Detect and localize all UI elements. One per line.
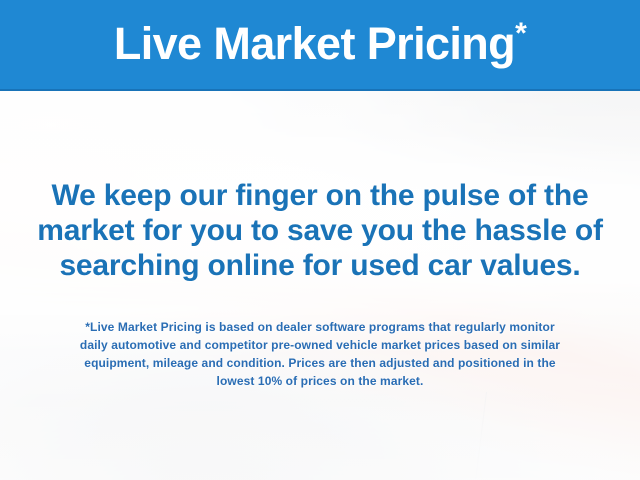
page-title-text: Live Market Pricing <box>114 18 515 69</box>
live-market-pricing-card: Live Market Pricing* We keep our finger … <box>0 0 640 480</box>
headline: We keep our finger on the pulse of the m… <box>0 178 640 283</box>
disclaimer-line: equipment, mileage and condition. Prices… <box>26 354 614 372</box>
disclaimer-line: daily automotive and competitor pre-owne… <box>26 336 614 354</box>
page-title-asterisk: * <box>515 17 526 50</box>
disclaimer-line: lowest 10% of prices on the market. <box>26 372 614 390</box>
headline-line: searching online for used car values. <box>18 248 622 283</box>
disclaimer-line: *Live Market Pricing is based on dealer … <box>26 318 614 336</box>
page-title: Live Market Pricing* <box>114 21 526 66</box>
header-banner: Live Market Pricing* <box>0 0 640 91</box>
headline-line: market for you to save you the hassle of <box>18 213 622 248</box>
headline-line: We keep our finger on the pulse of the <box>18 178 622 213</box>
disclaimer-text: *Live Market Pricing is based on dealer … <box>0 318 640 390</box>
